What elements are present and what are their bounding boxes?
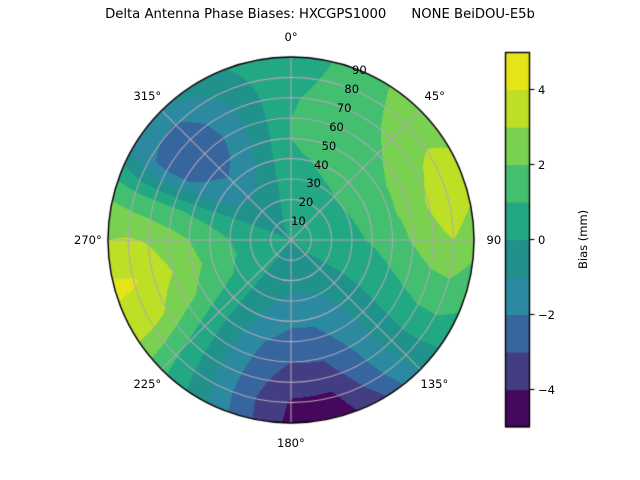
angular-tick-0: 0° (285, 31, 298, 43)
radial-tick-20: 20 (299, 196, 314, 208)
angular-tick-315: 315° (133, 90, 161, 102)
colorbar-axis-label: Bias (mm) (576, 210, 590, 269)
radial-tick-80: 80 (344, 83, 359, 95)
radial-tick-10: 10 (291, 215, 306, 227)
colorbar-tick-label: 2 (538, 159, 545, 171)
angular-tick-135: 135° (421, 378, 449, 390)
colorbar-tick-label: 4 (538, 84, 545, 96)
angular-tick-90: 90 (487, 234, 502, 246)
figure-canvas: Delta Antenna Phase Biases: HXCGPS1000 N… (0, 0, 640, 480)
radial-tick-50: 50 (322, 140, 337, 152)
radial-tick-70: 70 (337, 102, 352, 114)
radial-tick-40: 40 (314, 159, 329, 171)
angular-tick-45: 45° (425, 90, 445, 102)
radial-tick-90: 90 (352, 64, 367, 76)
radial-tick-30: 30 (306, 177, 321, 189)
colorbar-tick-label: 0 (538, 234, 545, 246)
colorbar-tick-label: −2 (538, 309, 555, 321)
colorbar-tick-label: −4 (538, 384, 555, 396)
angular-tick-225: 225° (133, 378, 161, 390)
angular-tick-270: 270° (74, 234, 102, 246)
angular-tick-180: 180° (277, 437, 305, 449)
radial-tick-60: 60 (329, 121, 344, 133)
